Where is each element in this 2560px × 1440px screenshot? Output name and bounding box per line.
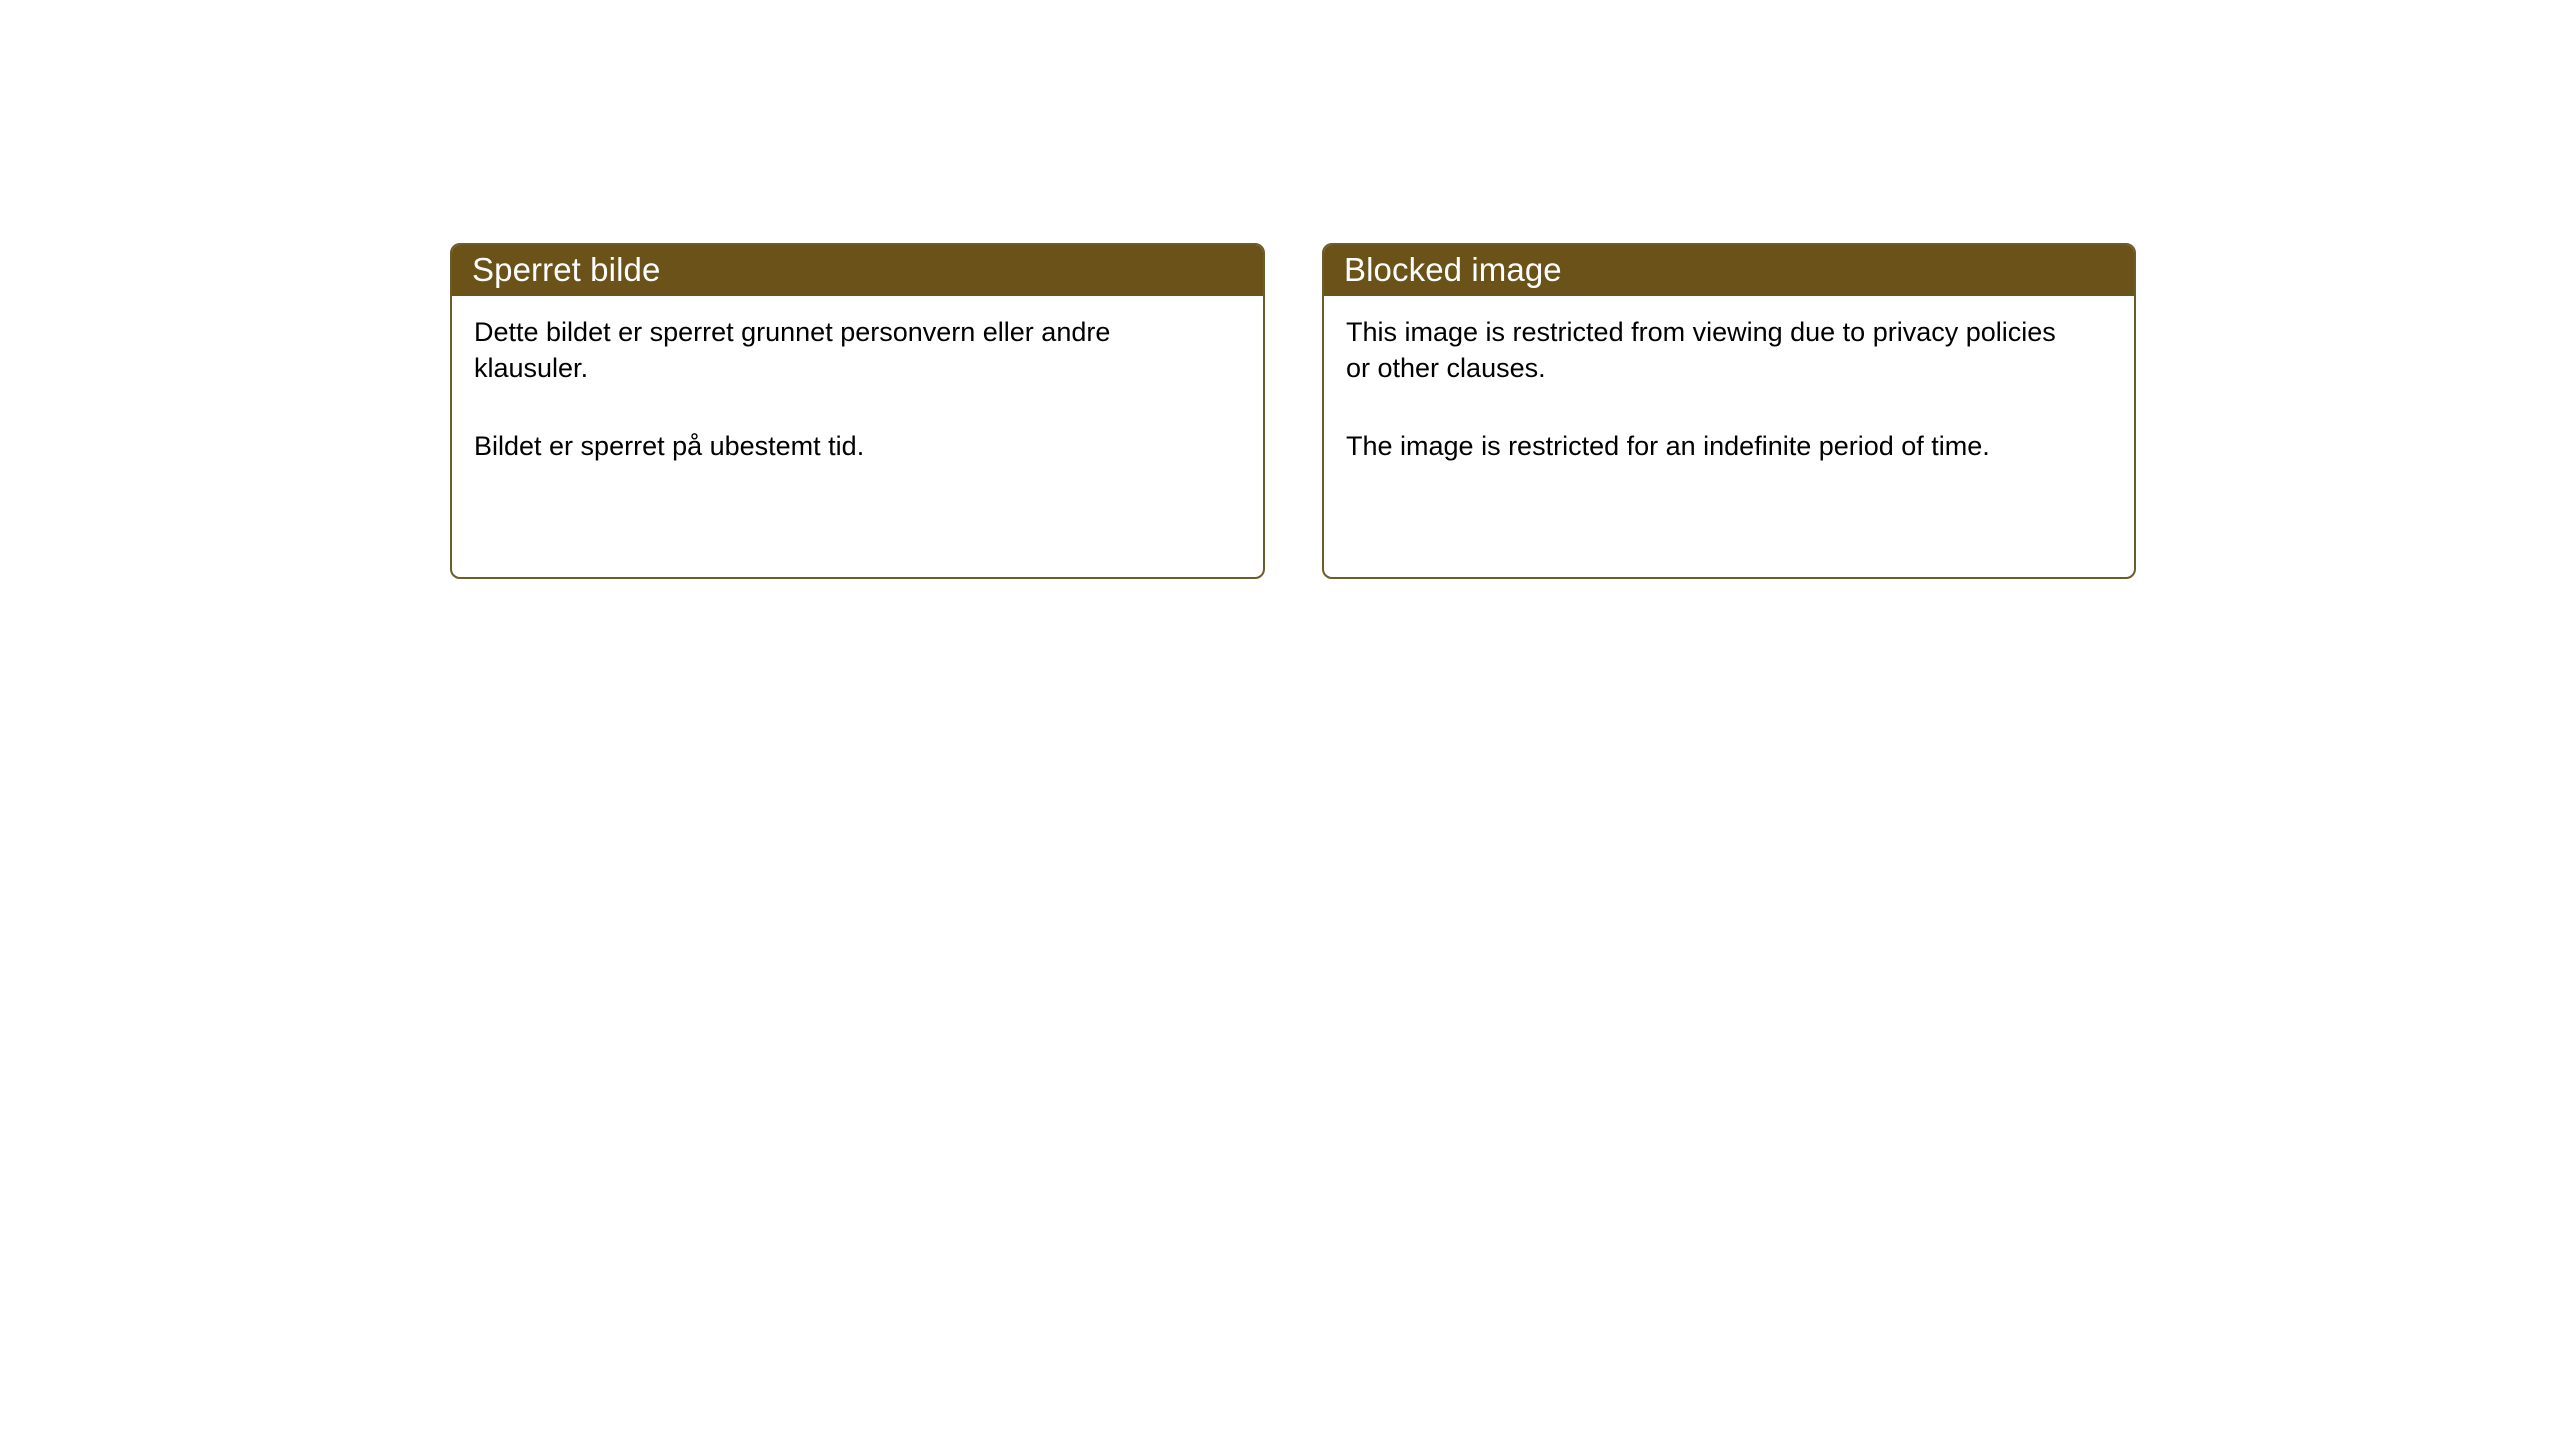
card-header-english: Blocked image bbox=[1322, 243, 2136, 296]
card-paragraph-primary-norwegian: Dette bildet er sperret grunnet personve… bbox=[474, 314, 1214, 386]
card-body-english: This image is restricted from viewing du… bbox=[1324, 296, 2134, 464]
blocked-image-card-english: Blocked image This image is restricted f… bbox=[1322, 243, 2136, 579]
card-title-english: Blocked image bbox=[1344, 253, 1562, 286]
card-paragraph-secondary-norwegian: Bildet er sperret på ubestemt tid. bbox=[474, 428, 1214, 464]
card-paragraph-secondary-english: The image is restricted for an indefinit… bbox=[1346, 428, 2086, 464]
card-body-norwegian: Dette bildet er sperret grunnet personve… bbox=[452, 296, 1263, 464]
blocked-image-card-norwegian: Sperret bilde Dette bildet er sperret gr… bbox=[450, 243, 1265, 579]
card-title-norwegian: Sperret bilde bbox=[472, 253, 660, 286]
card-paragraph-primary-english: This image is restricted from viewing du… bbox=[1346, 314, 2086, 386]
page-canvas: Sperret bilde Dette bildet er sperret gr… bbox=[0, 0, 2560, 1440]
card-header-norwegian: Sperret bilde bbox=[450, 243, 1265, 296]
